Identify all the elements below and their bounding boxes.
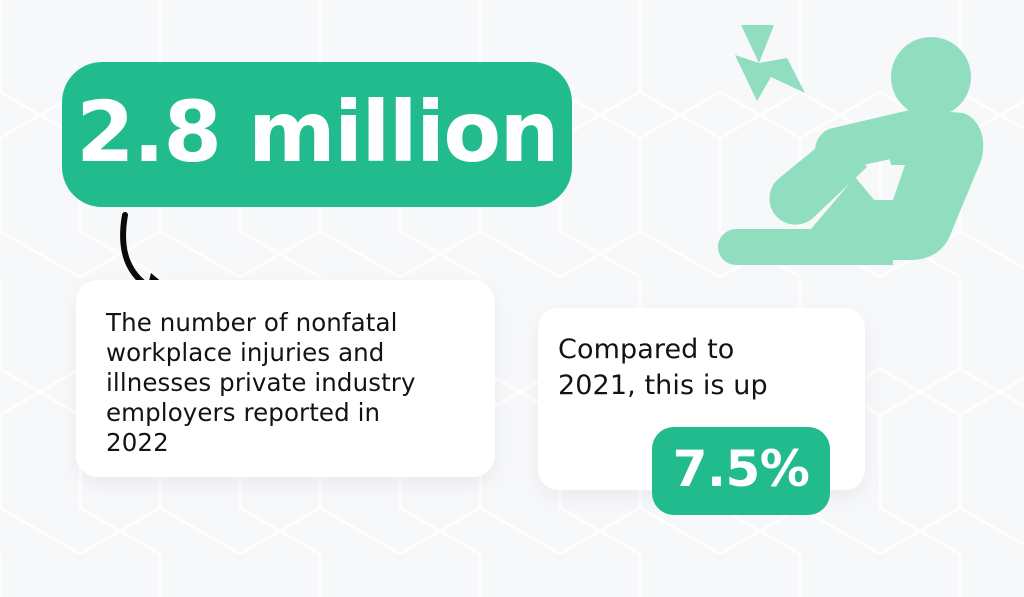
stat-badge: 2.8 million [62,62,572,207]
comparison-card-text: Compared to 2021, this is up [558,332,843,404]
stat-badge-value: 2.8 million [76,90,558,174]
percent-badge-value: 7.5% [673,444,810,494]
infographic-canvas: 2.8 million The number of nonfatal workp… [0,0,1024,597]
head-shape [891,37,971,117]
injured-seated-worker-illustration [715,15,985,280]
description-card: The number of nonfatal workplace injurie… [76,280,495,477]
lower-leg-foot-shape [718,229,893,265]
percent-badge: 7.5% [652,427,830,515]
description-card-text: The number of nonfatal workplace injurie… [106,308,471,458]
lightning-bolt-icon [735,25,805,101]
